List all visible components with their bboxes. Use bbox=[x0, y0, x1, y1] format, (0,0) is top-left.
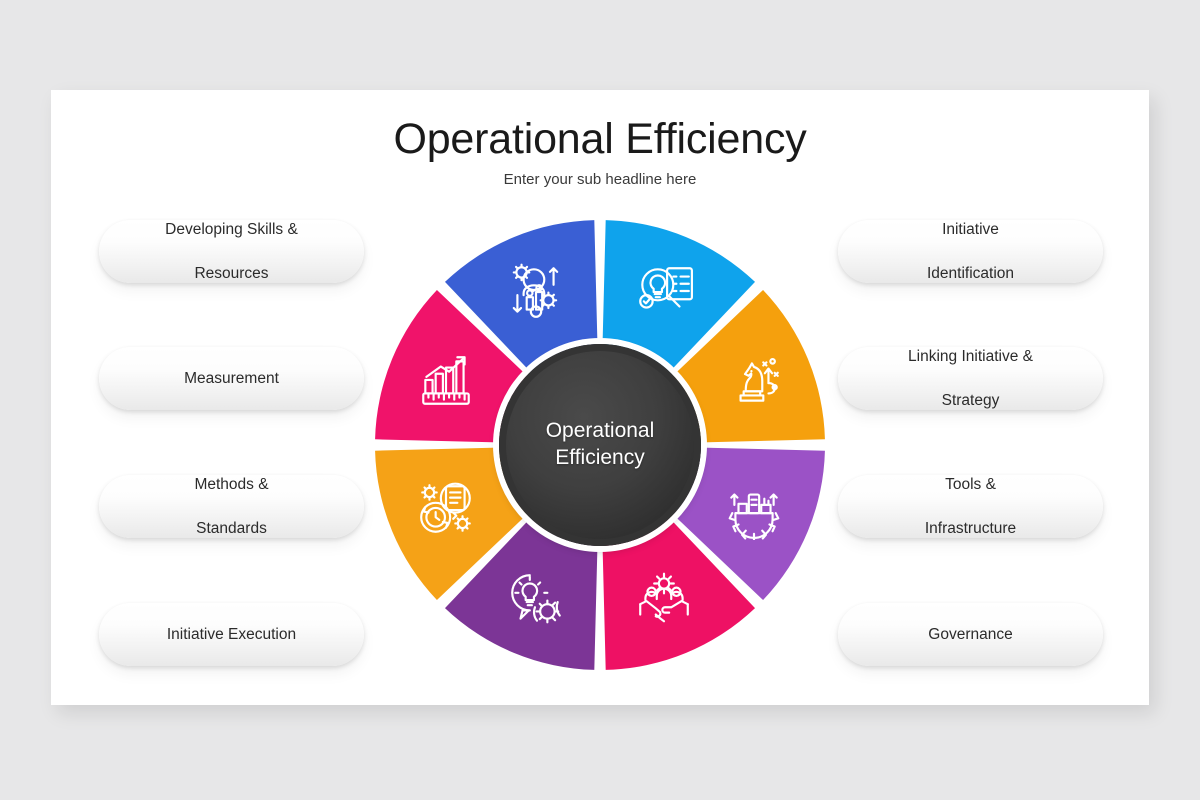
label-linking-initiative-strategy[interactable]: Linking Initiative &Strategy bbox=[838, 347, 1103, 410]
page-title: Operational Efficiency bbox=[51, 117, 1149, 162]
label-text: Governance bbox=[928, 624, 1012, 646]
label-governance[interactable]: Governance bbox=[838, 603, 1103, 666]
segmented-donut-chart: OperationalEfficiency bbox=[370, 215, 830, 675]
label-initiative-identification[interactable]: InitiativeIdentification bbox=[838, 220, 1103, 283]
label-text: Initiative Execution bbox=[167, 624, 296, 646]
label-text: InitiativeIdentification bbox=[927, 219, 1014, 285]
label-measurement[interactable]: Measurement bbox=[99, 347, 364, 410]
label-tools-infrastructure[interactable]: Tools &Infrastructure bbox=[838, 475, 1103, 538]
label-methods-standards[interactable]: Methods &Standards bbox=[99, 475, 364, 538]
page-subtitle: Enter your sub headline here bbox=[51, 171, 1149, 188]
slide-card: Operational Efficiency Enter your sub he… bbox=[51, 90, 1149, 705]
label-initiative-execution[interactable]: Initiative Execution bbox=[99, 603, 364, 666]
label-text: Tools &Infrastructure bbox=[925, 474, 1016, 540]
label-text: Developing Skills &Resources bbox=[165, 219, 298, 285]
label-text: Measurement bbox=[184, 368, 279, 390]
label-text: Methods &Standards bbox=[194, 474, 268, 540]
center-hub[interactable]: OperationalEfficiency bbox=[499, 344, 701, 546]
label-developing-skills-resources[interactable]: Developing Skills &Resources bbox=[99, 220, 364, 283]
label-text: Linking Initiative &Strategy bbox=[908, 346, 1033, 412]
center-hub-label: OperationalEfficiency bbox=[546, 418, 655, 472]
